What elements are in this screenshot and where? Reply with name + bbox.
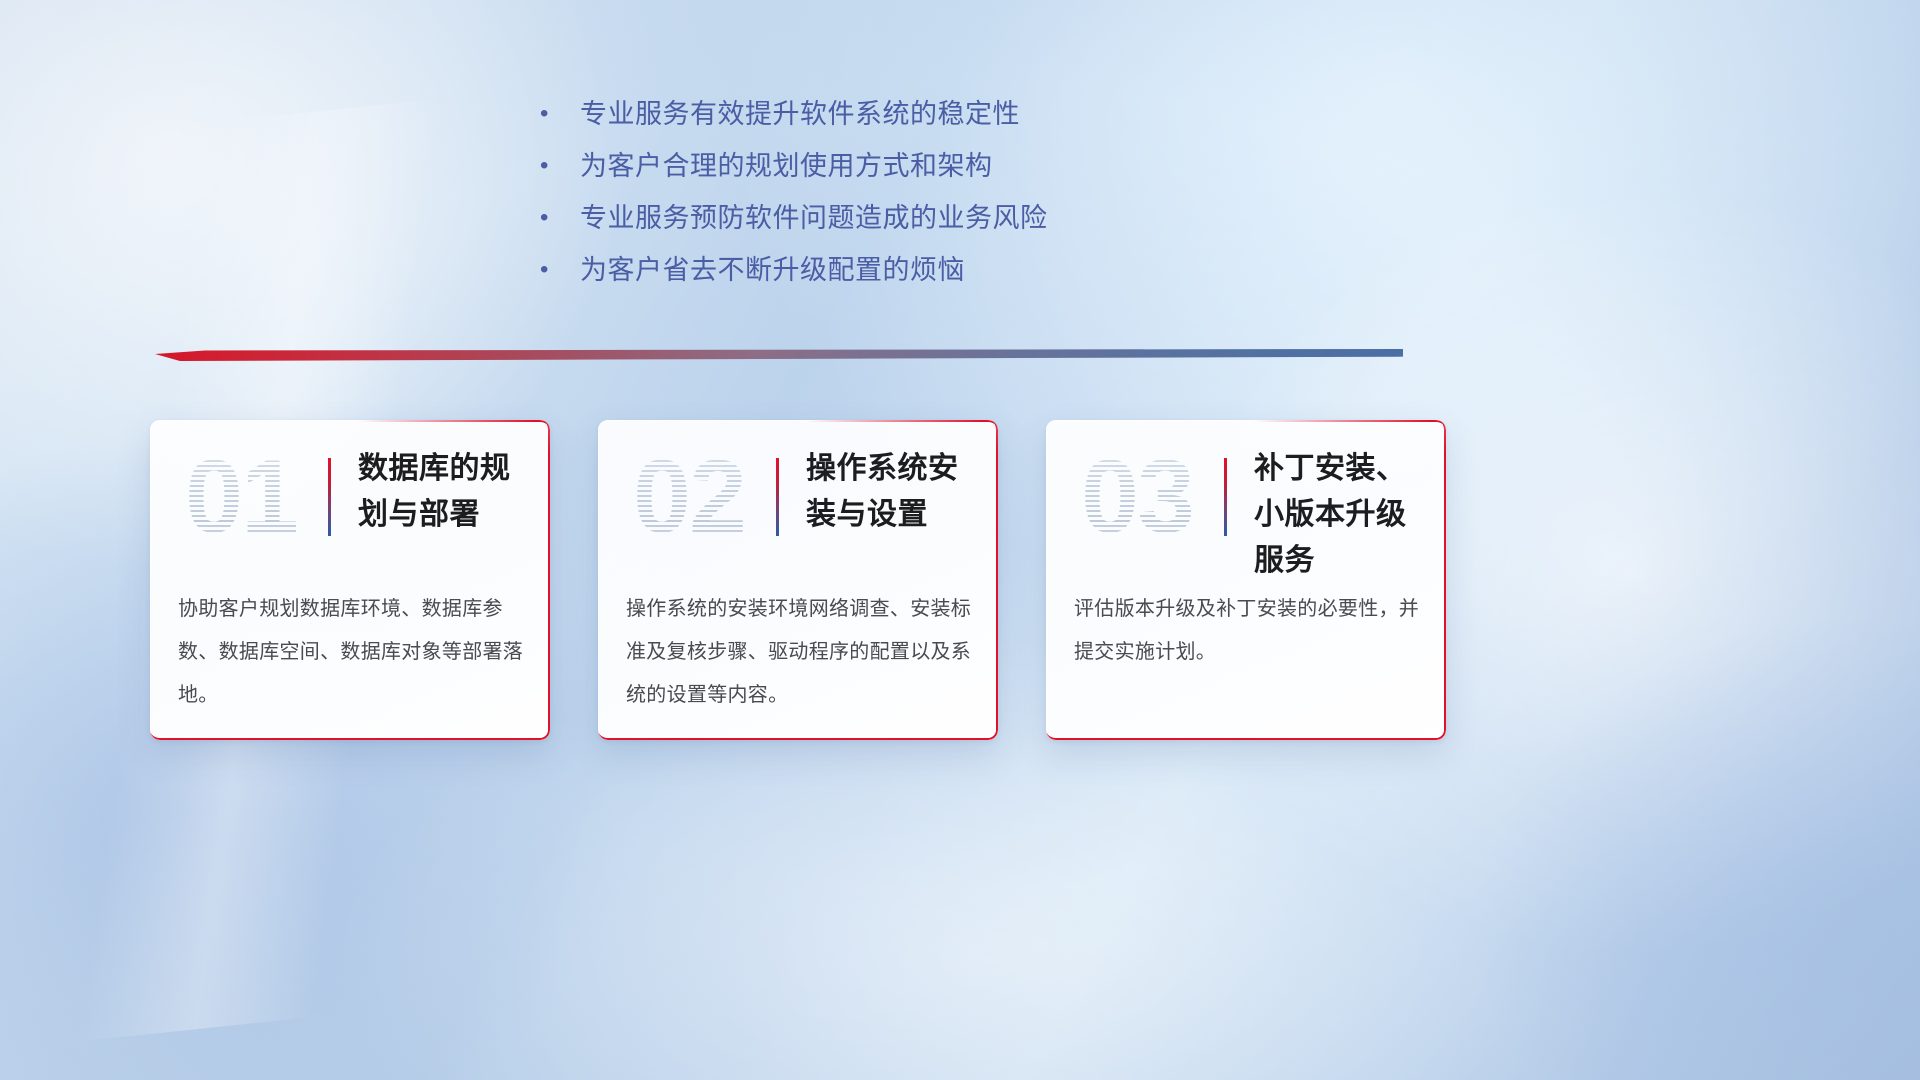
card-number-text: 02 — [633, 438, 745, 557]
card-divider-rule — [1224, 458, 1227, 536]
service-card-03[interactable]: 03 补丁安装、小版本升级服务 评估版本升级及补丁安装的必要性，并提交实施计划。 — [1046, 420, 1446, 740]
section-divider — [155, 349, 1403, 361]
card-number-watermark: 01 — [166, 442, 316, 552]
card-header: 02 操作系统安装与设置 — [598, 420, 998, 570]
list-item: • 为客户省去不断升级配置的烦恼 — [540, 244, 1140, 296]
divider-shine — [155, 349, 1403, 361]
card-body-text: 协助客户规划数据库环境、数据库参数、数据库空间、数据库对象等部署落地。 — [178, 588, 528, 717]
card-body-text: 操作系统的安装环境网络调查、安装标准及复核步骤、驱动程序的配置以及系统的设置等内… — [626, 588, 976, 717]
bullet-text: 专业服务有效提升软件系统的稳定性 — [580, 88, 1140, 140]
bullet-dot-icon: • — [540, 244, 580, 296]
bullet-text: 为客户省去不断升级配置的烦恼 — [580, 244, 1140, 296]
card-title: 数据库的规划与部署 — [358, 446, 536, 538]
card-number-text: 03 — [1081, 438, 1193, 557]
bullet-dot-icon: • — [540, 140, 580, 192]
card-header: 03 补丁安装、小版本升级服务 — [1046, 420, 1446, 570]
card-number-watermark: 03 — [1062, 442, 1212, 552]
card-divider-rule — [776, 458, 779, 536]
card-header: 01 数据库的规划与部署 — [150, 420, 550, 570]
card-body-text: 评估版本升级及补丁安装的必要性，并提交实施计划。 — [1074, 588, 1424, 674]
bullet-text: 专业服务预防软件问题造成的业务风险 — [580, 192, 1140, 244]
bullet-text: 为客户合理的规划使用方式和架构 — [580, 140, 1140, 192]
service-card-02[interactable]: 02 操作系统安装与设置 操作系统的安装环境网络调查、安装标准及复核步骤、驱动程… — [598, 420, 998, 740]
card-number-watermark: 02 — [614, 442, 764, 552]
list-item: • 为客户合理的规划使用方式和架构 — [540, 140, 1140, 192]
card-title: 操作系统安装与设置 — [806, 446, 984, 538]
card-number-text: 01 — [185, 438, 297, 557]
bullet-dot-icon: • — [540, 88, 580, 140]
bullet-dot-icon: • — [540, 192, 580, 244]
list-item: • 专业服务预防软件问题造成的业务风险 — [540, 192, 1140, 244]
card-divider-rule — [328, 458, 331, 536]
service-card-01[interactable]: 01 数据库的规划与部署 协助客户规划数据库环境、数据库参数、数据库空间、数据库… — [150, 420, 550, 740]
service-card-list: 01 数据库的规划与部署 协助客户规划数据库环境、数据库参数、数据库空间、数据库… — [150, 420, 1446, 740]
benefit-bullet-list: • 专业服务有效提升软件系统的稳定性 • 为客户合理的规划使用方式和架构 • 专… — [540, 88, 1140, 296]
card-title: 补丁安装、小版本升级服务 — [1254, 446, 1432, 584]
list-item: • 专业服务有效提升软件系统的稳定性 — [540, 88, 1140, 140]
